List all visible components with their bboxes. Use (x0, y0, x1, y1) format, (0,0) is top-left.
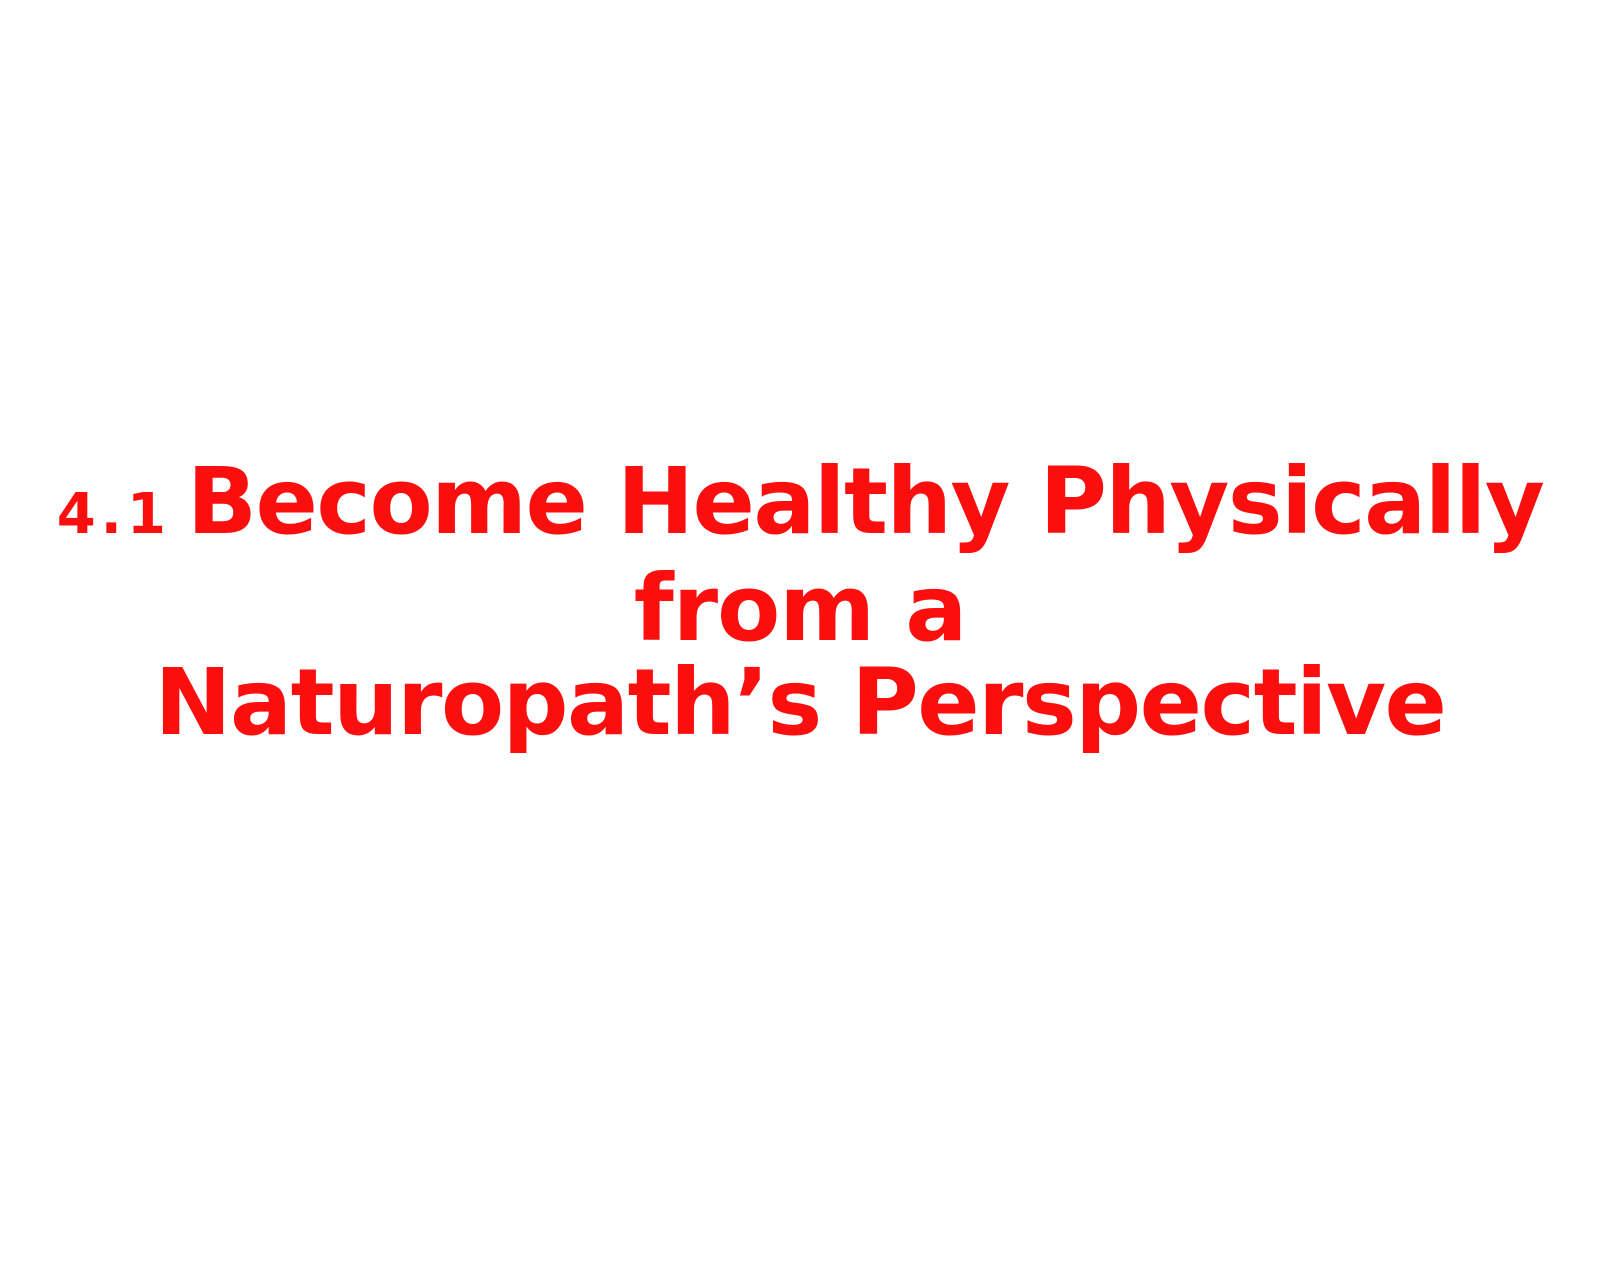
title-line-1: 4.1Become Healthy Physically (40, 455, 1560, 562)
slide-title-block: 4.1Become Healthy Physically from a Natu… (0, 455, 1600, 750)
title-line-3: Naturopath’s Perspective (40, 656, 1560, 750)
slide-canvas: 4.1Become Healthy Physically from a Natu… (0, 0, 1600, 1265)
title-line-1-text: Become Healthy Physically (187, 448, 1543, 555)
title-line-2: from a (40, 562, 1560, 656)
section-number: 4.1 (57, 482, 171, 547)
